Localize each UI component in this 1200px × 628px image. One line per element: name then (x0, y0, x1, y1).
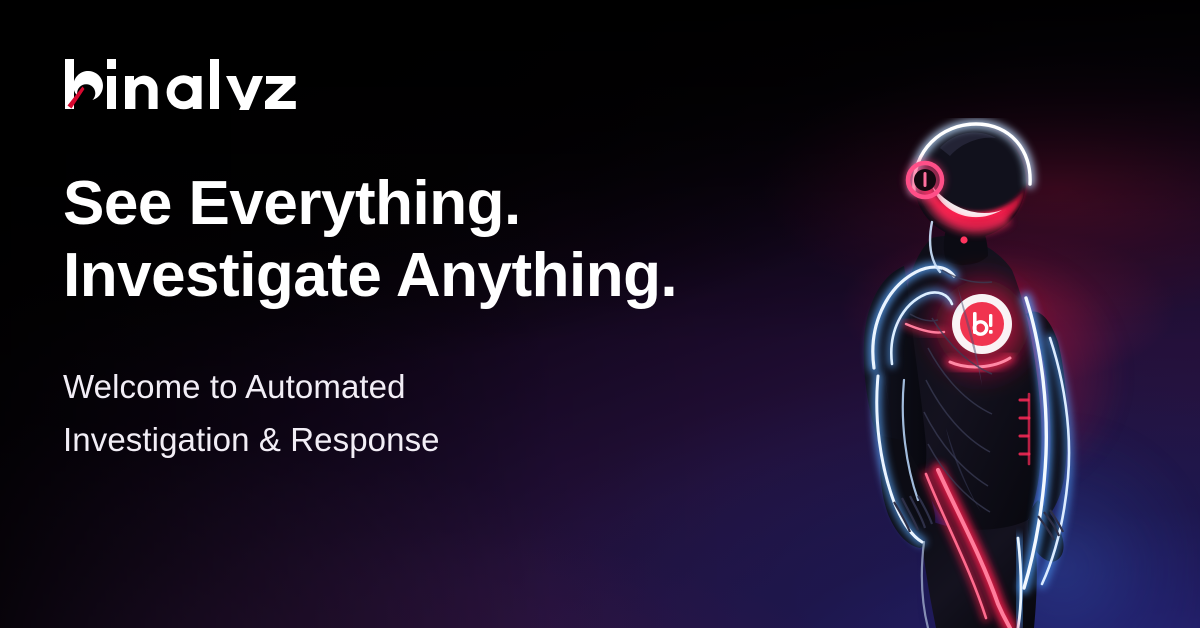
subheadline-line-2: Investigation & Response (63, 413, 823, 466)
helmet-ear-disc (905, 160, 945, 200)
headline-line-2: Investigate Anything. (63, 240, 823, 312)
subheadline: Welcome to Automated Investigation & Res… (63, 360, 823, 467)
binalyze-logo[interactable] (63, 56, 299, 112)
subheadline-line-1: Welcome to Automated (63, 360, 823, 413)
hero-copy: See Everything. Investigate Anything. We… (63, 168, 823, 467)
neon-cyborg-figure (782, 118, 1142, 628)
hero-banner: See Everything. Investigate Anything. We… (0, 0, 1200, 628)
headline-line-1: See Everything. (63, 168, 823, 240)
